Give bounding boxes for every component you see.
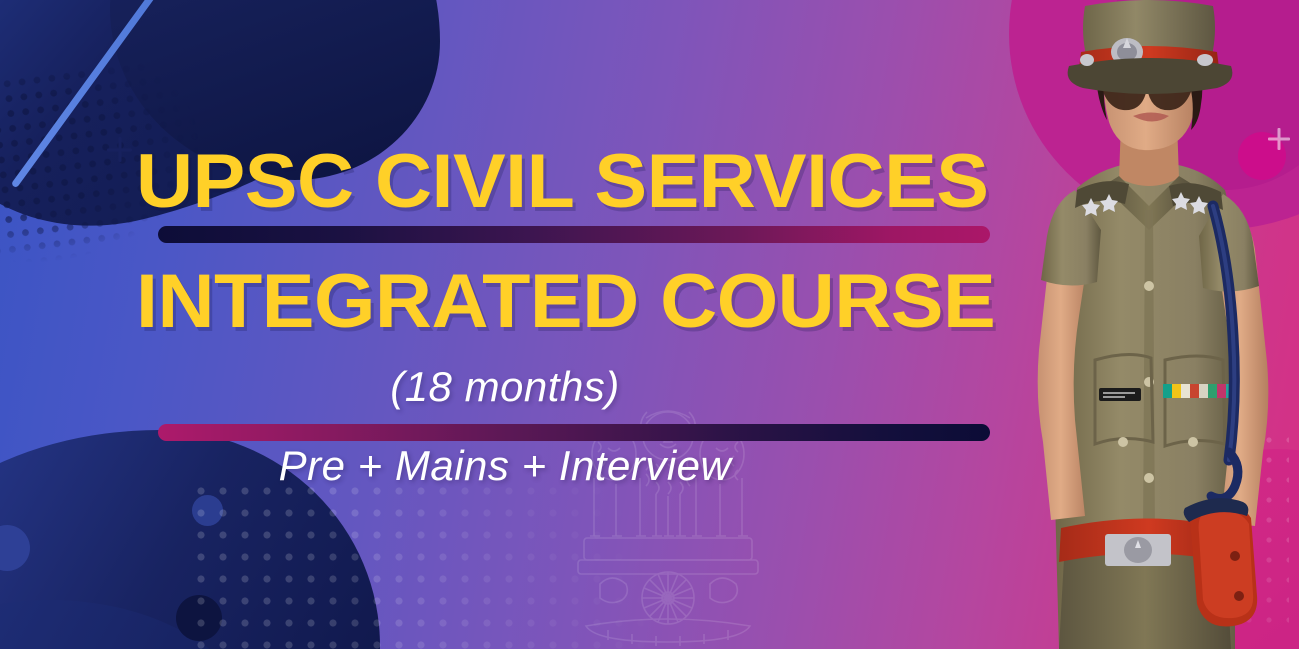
- promo-banner: UPSC CIVIL SERVICES INTEGRATED COURSE (1…: [0, 0, 1299, 649]
- course-duration-label: (18 months): [0, 363, 1010, 411]
- divider-bar-bottom: [158, 424, 990, 441]
- decorative-blob-top-right-2: [1099, 0, 1299, 190]
- banner-content: UPSC CIVIL SERVICES INTEGRATED COURSE (1…: [0, 0, 1040, 649]
- decorative-circle-top-right-1: [1068, 28, 1114, 74]
- decorative-blob-top-right: [1009, 0, 1299, 230]
- banner-title-line-1: UPSC CIVIL SERVICES: [136, 138, 989, 225]
- police-officer-figure: [999, 0, 1299, 649]
- course-stages-tagline: Pre + Mains + Interview: [0, 442, 1010, 490]
- plus-mark-icon-right: [1268, 128, 1290, 150]
- banner-title-line-2: INTEGRATED COURSE: [136, 258, 995, 345]
- decorative-blob-bottom-right: [1069, 449, 1299, 649]
- decorative-circle-top-right-2: [1238, 132, 1286, 180]
- divider-bar-top: [158, 226, 990, 243]
- halftone-dots-right: [1099, 430, 1289, 630]
